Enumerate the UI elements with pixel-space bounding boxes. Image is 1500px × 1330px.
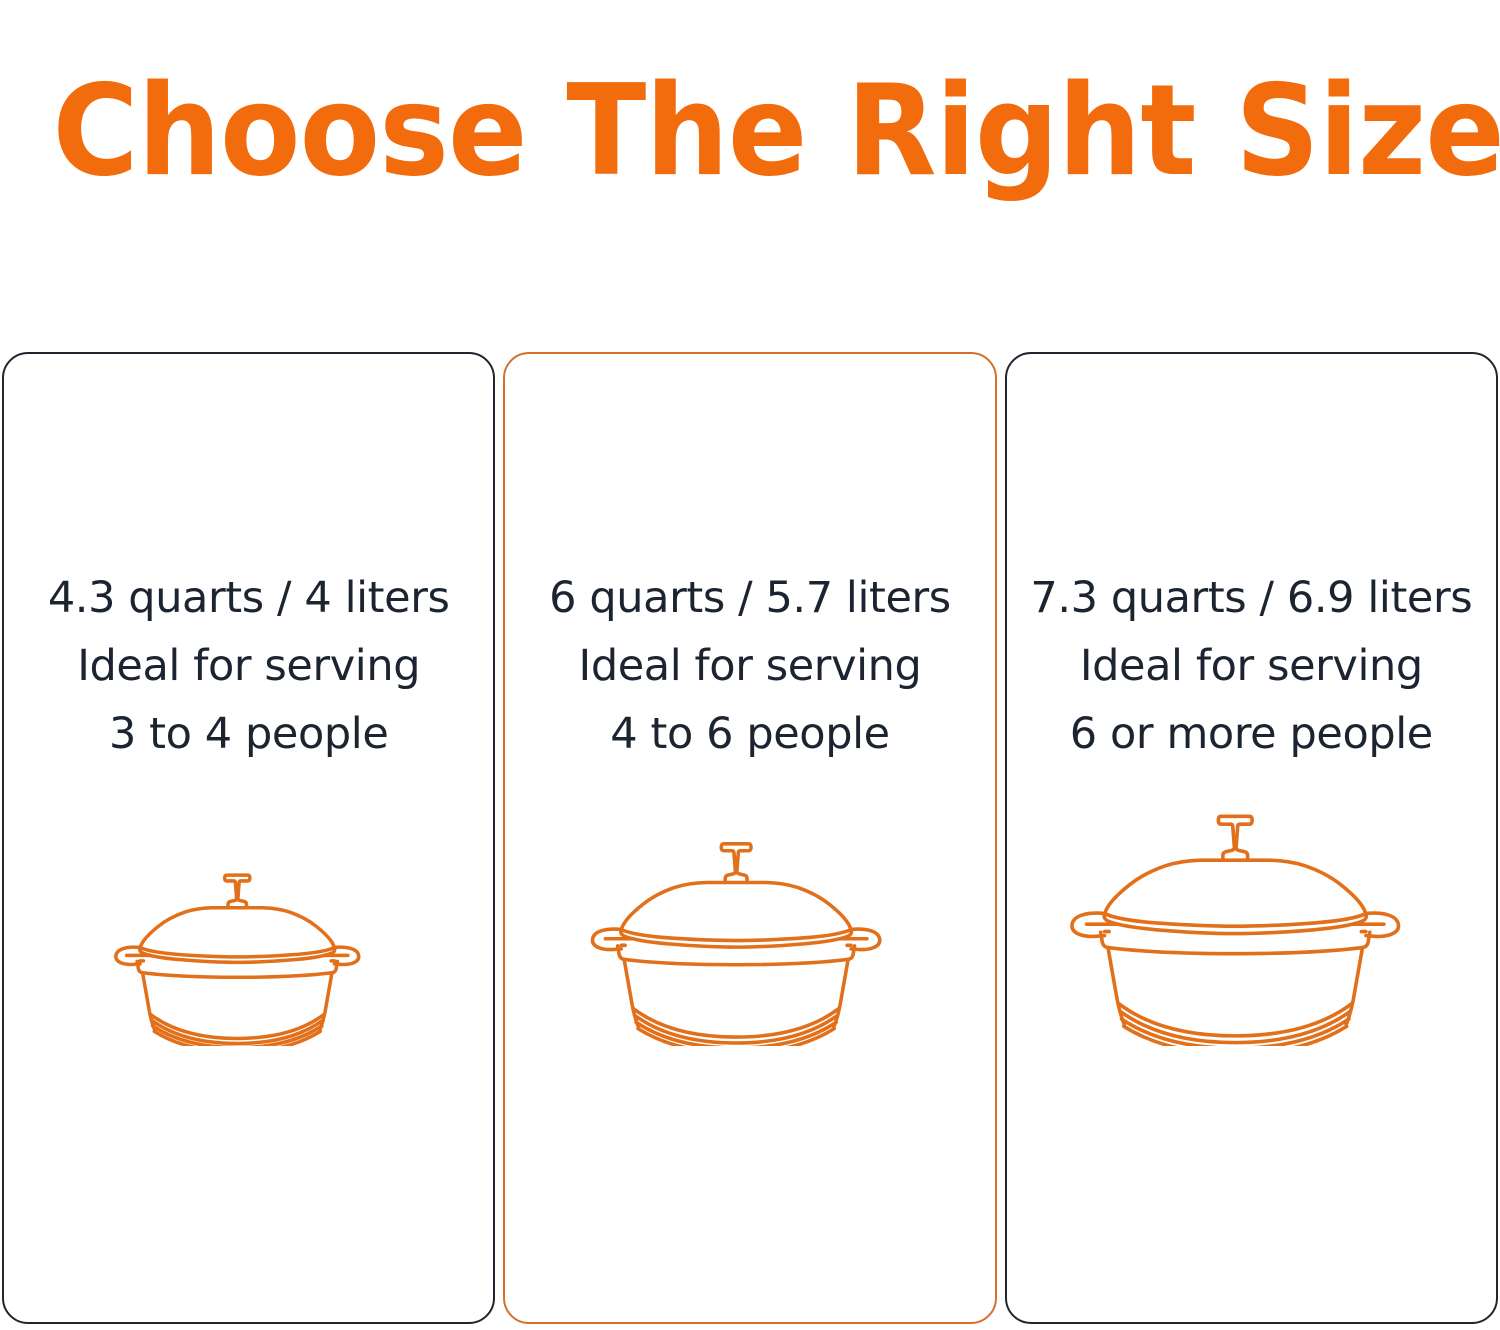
pot-illustration-wrap-medium [505,826,994,1046]
ideal-for-label: Ideal for serving [4,632,493,700]
pot-illustration-wrap-large [1007,796,1496,1046]
dutch-oven-pot-icon [106,860,392,1046]
serving-label: 4 to 6 people [505,700,994,768]
capacity-label: 6 quarts / 5.7 liters [505,564,994,632]
size-guide-page: Choose The Right Size 4.3 quarts / 4 lit… [0,0,1500,1330]
size-card-large[interactable]: 7.3 quarts / 6.9 liters Ideal for servin… [1005,352,1498,1324]
serving-label: 6 or more people [1007,700,1496,768]
size-card-small[interactable]: 4.3 quarts / 4 liters Ideal for serving … [2,352,495,1324]
serving-label: 3 to 4 people [4,700,493,768]
dutch-oven-pot-icon [581,826,919,1046]
page-title: Choose The Right Size [53,68,1448,194]
size-card-large-text: 7.3 quarts / 6.9 liters Ideal for servin… [1007,564,1496,768]
dutch-oven-pot-icon [1059,796,1443,1046]
size-card-medium[interactable]: 6 quarts / 5.7 liters Ideal for serving … [503,352,996,1324]
capacity-label: 7.3 quarts / 6.9 liters [1007,564,1496,632]
ideal-for-label: Ideal for serving [505,632,994,700]
size-card-row: 4.3 quarts / 4 liters Ideal for serving … [2,352,1498,1324]
capacity-label: 4.3 quarts / 4 liters [4,564,493,632]
pot-illustration-wrap-small [4,860,493,1046]
size-card-medium-text: 6 quarts / 5.7 liters Ideal for serving … [505,564,994,768]
size-card-small-text: 4.3 quarts / 4 liters Ideal for serving … [4,564,493,768]
ideal-for-label: Ideal for serving [1007,632,1496,700]
